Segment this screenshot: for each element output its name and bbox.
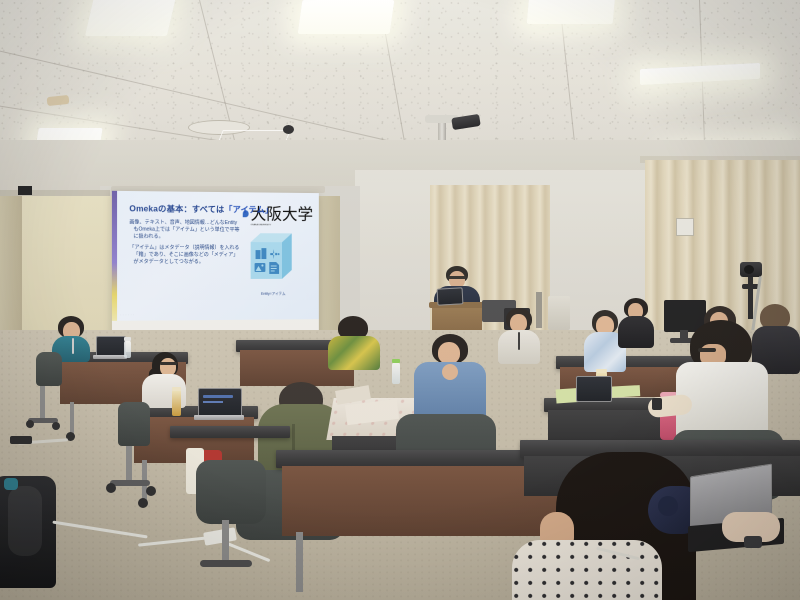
tea-bottle	[172, 390, 181, 416]
chair-caster	[146, 486, 156, 496]
water-bottle	[124, 340, 131, 358]
attendee-dark-torso	[618, 316, 654, 348]
desk-leg	[296, 532, 303, 592]
slide-bullet-list: 画像、テキスト、音声、地図情報…どんなEntityもOmeka上では「アイテム」…	[129, 219, 241, 270]
presenter-glasses-icon	[448, 276, 466, 279]
side-cabinet	[548, 296, 570, 330]
laptop-screen-content	[203, 395, 233, 398]
wall-speaker	[676, 218, 694, 236]
slide-footer: · · · · · ·	[120, 314, 135, 317]
laptop-base	[194, 415, 244, 420]
ceiling-light	[298, 0, 395, 34]
attendee-blue-head	[438, 342, 460, 364]
bottle-cap	[172, 387, 181, 391]
water-bottle	[392, 362, 400, 384]
attendee-lanyard	[518, 332, 520, 350]
logo-text-en: OSAKA UNIVERSITY	[251, 224, 313, 226]
chair	[196, 460, 266, 524]
ceiling-sensor-icon	[283, 125, 294, 134]
attendee-patterned-shirt-torso	[328, 336, 380, 370]
desk-caster	[138, 498, 148, 508]
attendee-neckline	[442, 364, 458, 380]
slide-title-highlight: 「アイテム」	[224, 205, 273, 214]
backpack-strap	[4, 478, 18, 490]
chair-caster	[52, 422, 60, 430]
slide-bullet: 「アイテム」はメタデータ（説明情報）を入れる「箱」であり、そこに画像などの「メデ…	[129, 245, 241, 267]
chair-caster	[106, 483, 116, 493]
laptop-base	[93, 355, 127, 359]
wall-outlet-icon	[18, 186, 32, 195]
presentation-slide: 大阪大学 OSAKA UNIVERSITY Omekaの基本：すべては「アイテム…	[112, 191, 319, 321]
chair	[118, 402, 150, 446]
lecture-room-photo: 大阪大学 OSAKA UNIVERSITY Omekaの基本：すべては「アイテム…	[0, 0, 800, 600]
ceiling-light	[85, 0, 177, 36]
right-wall-panel	[318, 196, 340, 346]
attendee-lanyard	[72, 338, 74, 354]
slide-accent-band	[112, 191, 117, 321]
attendee-front-blouse	[512, 540, 662, 600]
bottle-cap	[124, 337, 131, 341]
slide-title-plain: Omekaの基本：すべては	[129, 204, 224, 214]
bottle-cap	[596, 369, 607, 373]
desk-leg	[70, 402, 74, 434]
laptop-screen-content	[203, 401, 223, 403]
attendee-glasses-icon	[160, 362, 177, 365]
chair-post	[40, 386, 45, 420]
hair-bow-knot	[658, 496, 678, 516]
chair-base	[110, 480, 150, 486]
wall-trim	[0, 190, 110, 196]
tripod-camera-lens-icon	[744, 265, 754, 274]
slide-title: Omekaの基本：すべては「アイテム」	[129, 202, 308, 216]
desk-lower-left	[170, 426, 290, 438]
cable-connector	[10, 436, 32, 444]
bottle-cap	[392, 359, 400, 363]
backpack-pocket	[8, 486, 42, 556]
chair-caster	[26, 420, 34, 428]
mic-stand	[536, 292, 542, 328]
chair-base	[200, 560, 252, 567]
ceiling-light	[527, 0, 616, 24]
item-cube-diagram	[243, 228, 300, 286]
projection-screen: 大阪大学 OSAKA UNIVERSITY Omekaの基本：すべては「アイテム…	[112, 191, 319, 341]
slide-bullet: 画像、テキスト、音声、地図情報…どんなEntityもOmeka上では「アイテム」…	[129, 219, 241, 241]
podium-laptop-screen	[437, 287, 464, 305]
chair	[36, 352, 62, 386]
cube-caption: Entity=アイテム	[241, 292, 306, 297]
wristwatch	[652, 398, 662, 410]
laptop-screen	[198, 388, 242, 418]
wristwatch	[744, 536, 762, 548]
attendee-glasses-icon	[698, 348, 716, 352]
laptop-screen	[576, 376, 612, 402]
